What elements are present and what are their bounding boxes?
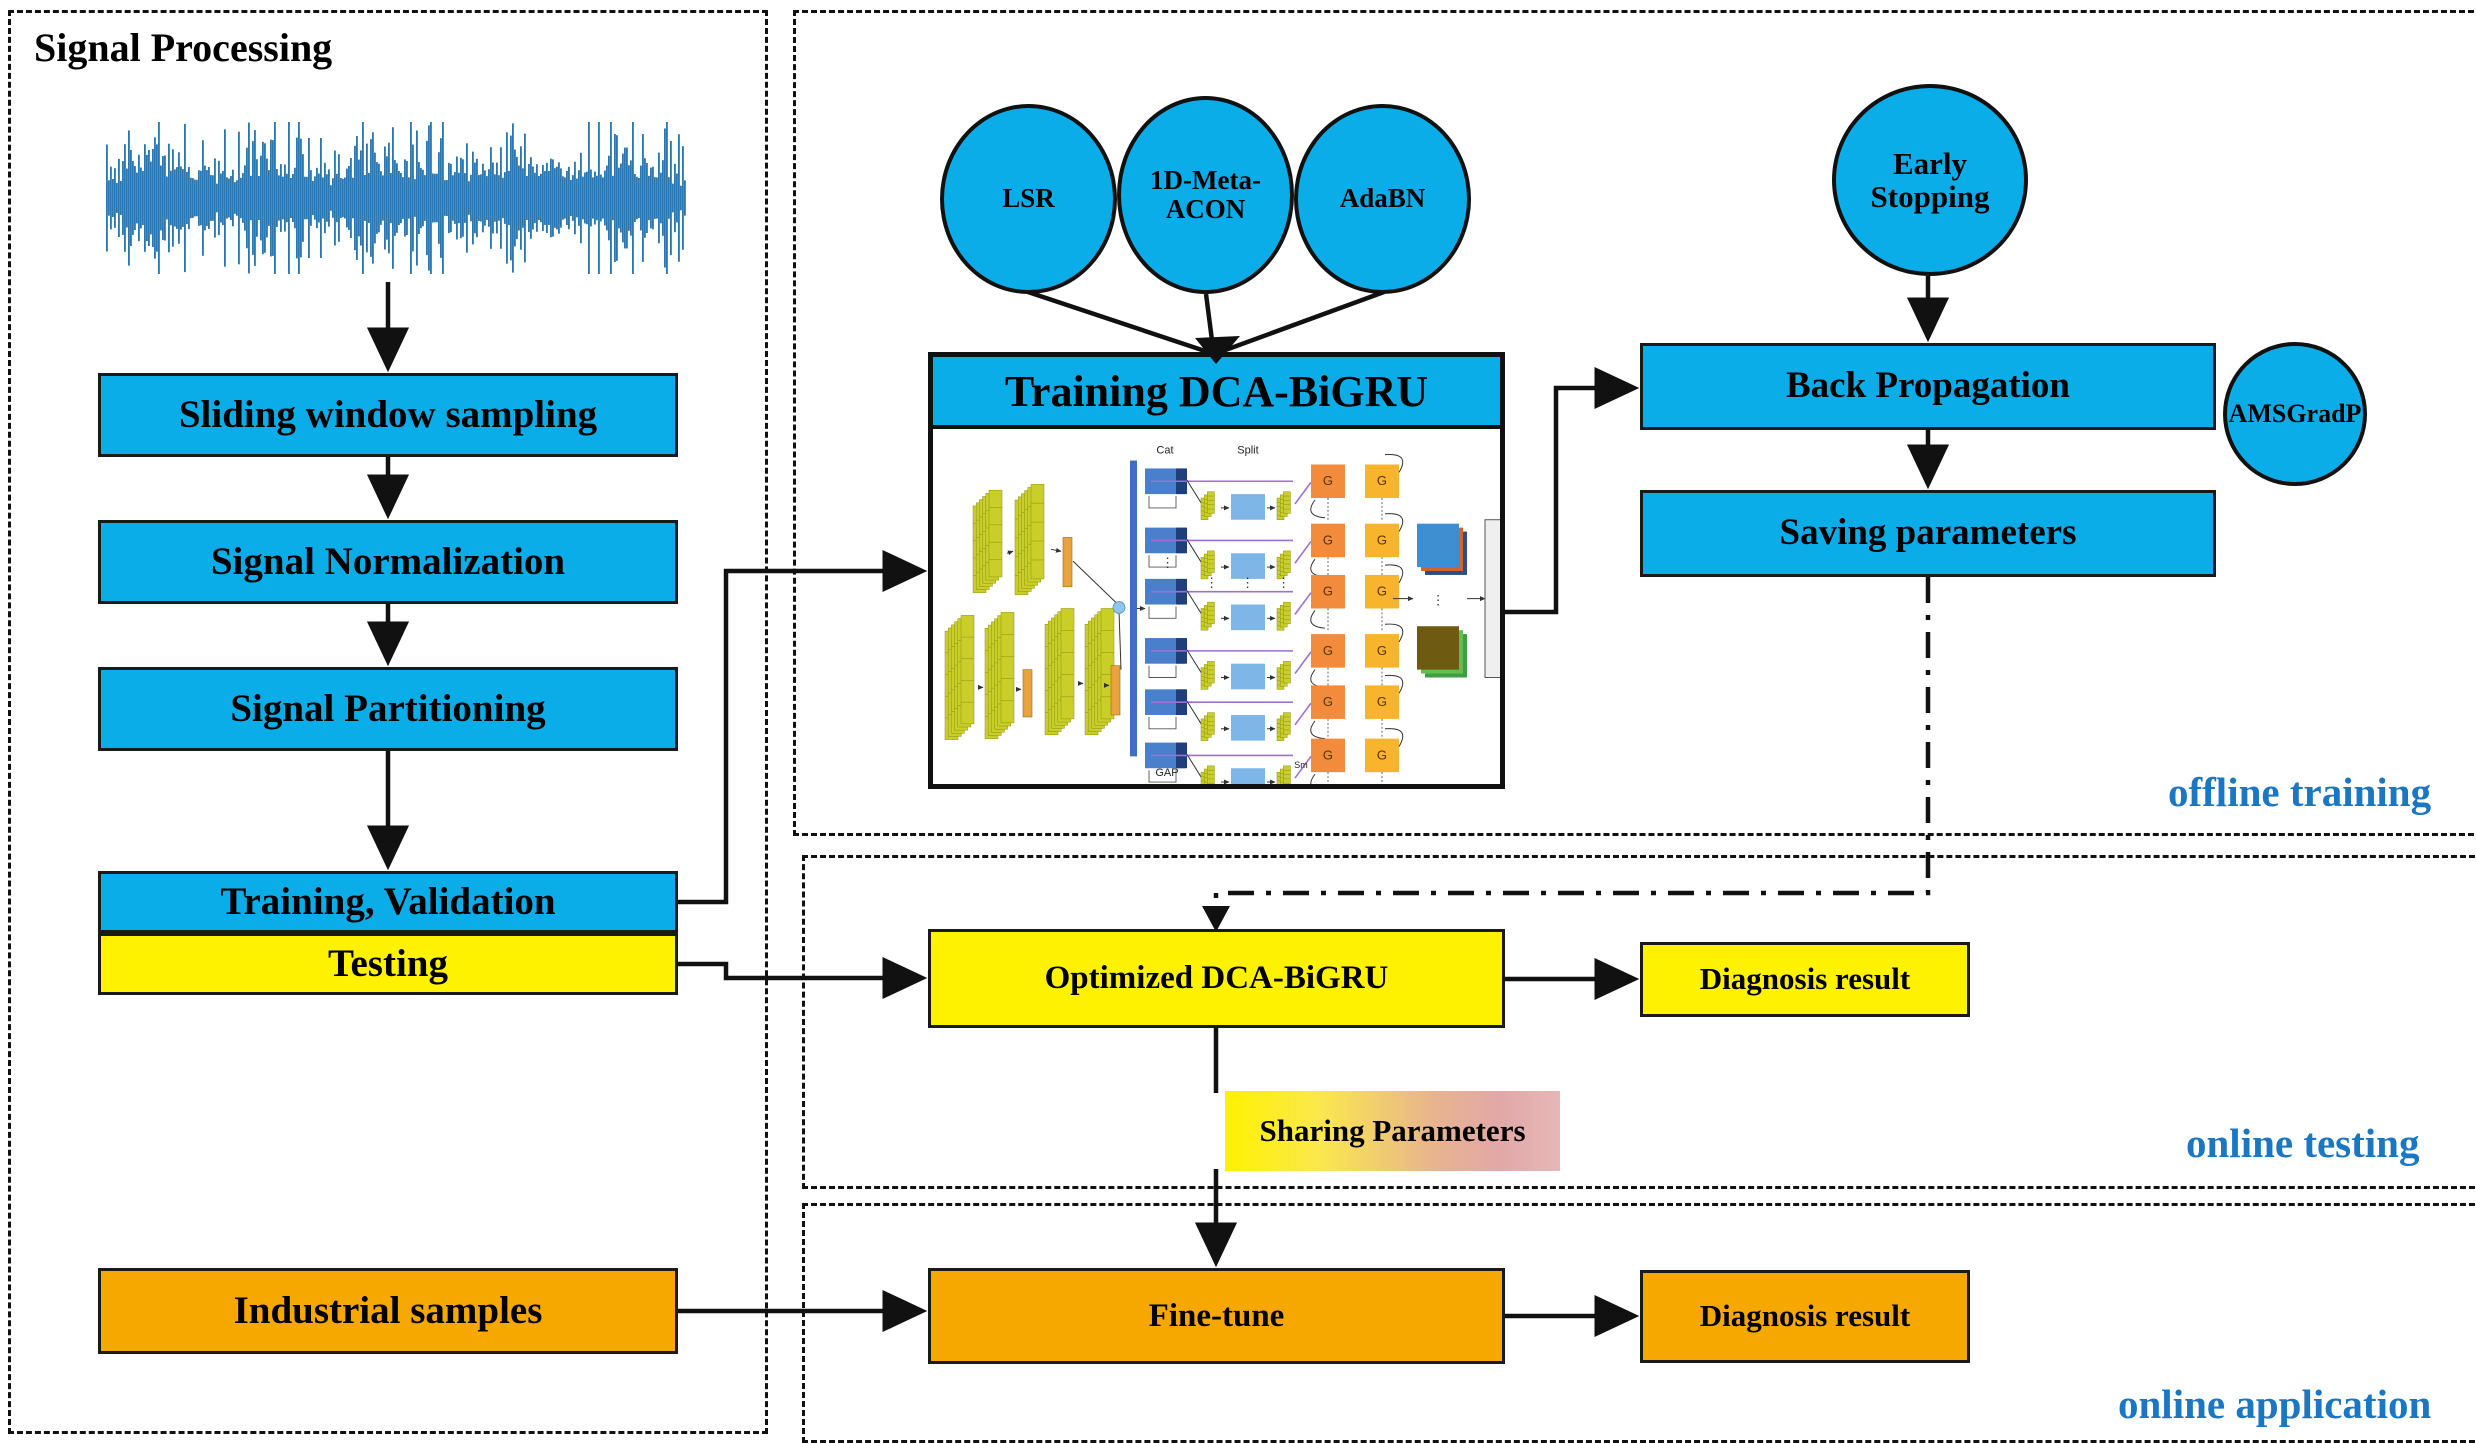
box-testing[interactable]: Testing bbox=[98, 933, 678, 995]
svg-text:G: G bbox=[1323, 694, 1333, 709]
box-label: Industrial samples bbox=[234, 1291, 543, 1332]
svg-text:⋮: ⋮ bbox=[1432, 593, 1445, 608]
svg-text:G: G bbox=[1323, 747, 1333, 762]
box-saving-parameters[interactable]: Saving parameters bbox=[1640, 490, 2216, 577]
svg-text:GAP: GAP bbox=[1155, 767, 1178, 779]
box-diagnosis-result-testing[interactable]: Diagnosis result bbox=[1640, 942, 1970, 1017]
svg-text:G: G bbox=[1323, 643, 1333, 658]
box-label: Signal Normalization bbox=[211, 542, 565, 583]
box-optimized-dca-bigru[interactable]: Optimized DCA-BiGRU bbox=[928, 929, 1505, 1028]
box-label: Training, Validation bbox=[220, 882, 555, 923]
svg-text:Split: Split bbox=[1237, 445, 1258, 457]
svg-text:G: G bbox=[1377, 532, 1387, 547]
card-title-text: Training DCA-BiGRU bbox=[1005, 366, 1428, 417]
svg-text:G: G bbox=[1377, 584, 1387, 599]
box-label: Saving parameters bbox=[1780, 514, 2077, 553]
circle-1d-meta-acon[interactable]: 1D-Meta- ACON bbox=[1117, 96, 1294, 294]
circle-amsgradp[interactable]: AMSGradP bbox=[2223, 342, 2367, 486]
box-label: Back Propagation bbox=[1786, 367, 2070, 406]
section-title-signal-processing: Signal Processing bbox=[34, 24, 332, 71]
flowchart-canvas: offline training online testing online a… bbox=[0, 0, 2476, 1440]
svg-text:G: G bbox=[1377, 694, 1387, 709]
box-diagnosis-result-application[interactable]: Diagnosis result bbox=[1640, 1270, 1970, 1363]
circle-adabn[interactable]: AdaBN bbox=[1294, 104, 1471, 294]
box-back-propagation[interactable]: Back Propagation bbox=[1640, 343, 2216, 430]
svg-text:⋮: ⋮ bbox=[1205, 575, 1218, 590]
svg-text:G: G bbox=[1323, 473, 1333, 488]
box-signal-partitioning[interactable]: Signal Partitioning bbox=[98, 667, 678, 751]
svg-text:G: G bbox=[1323, 532, 1333, 547]
circle-label: LSR bbox=[1002, 184, 1055, 213]
svg-text:Sm: Sm bbox=[1294, 760, 1307, 770]
box-sliding-window-sampling[interactable]: Sliding window sampling bbox=[98, 373, 678, 457]
panel-label-online-testing: online testing bbox=[2186, 1119, 2420, 1167]
box-industrial-samples[interactable]: Industrial samples bbox=[98, 1268, 678, 1354]
box-label: Signal Partitioning bbox=[230, 689, 545, 730]
svg-text:G: G bbox=[1377, 747, 1387, 762]
circle-early-stopping[interactable]: Early Stopping bbox=[1832, 84, 2028, 276]
box-signal-normalization[interactable]: Signal Normalization bbox=[98, 520, 678, 604]
circle-label: Early Stopping bbox=[1871, 147, 1990, 214]
banner-sharing-parameters: Sharing Parameters bbox=[1225, 1091, 1560, 1171]
box-label: Sliding window sampling bbox=[179, 395, 597, 436]
circle-label: 1D-Meta- ACON bbox=[1150, 166, 1261, 224]
panel-label-offline-training: offline training bbox=[2168, 768, 2431, 816]
circle-label: AdaBN bbox=[1340, 184, 1426, 213]
box-fine-tune[interactable]: Fine-tune bbox=[928, 1268, 1505, 1364]
box-label: Fine-tune bbox=[1149, 1299, 1285, 1334]
network-architecture-diagram: GGGGGGGGGGGG⋮⋮⋮⋮CatSplitGAPSm⋮0123456789 bbox=[933, 429, 1500, 784]
svg-text:⋮: ⋮ bbox=[1241, 575, 1254, 590]
box-label: Diagnosis result bbox=[1700, 1300, 1910, 1333]
card-training-dca-bigru[interactable]: Training DCA-BiGRU GGGGGGGGGGGG⋮⋮⋮⋮CatSp… bbox=[928, 352, 1505, 789]
box-label: Testing bbox=[328, 944, 448, 985]
box-label: Diagnosis result bbox=[1700, 963, 1910, 996]
svg-text:G: G bbox=[1323, 584, 1333, 599]
banner-label: Sharing Parameters bbox=[1259, 1113, 1525, 1149]
circle-lsr[interactable]: LSR bbox=[940, 104, 1117, 294]
box-label: Optimized DCA-BiGRU bbox=[1045, 961, 1389, 996]
box-training-validation[interactable]: Training, Validation bbox=[98, 871, 678, 933]
svg-text:⋮: ⋮ bbox=[1161, 555, 1174, 570]
svg-text:Cat: Cat bbox=[1156, 445, 1173, 457]
panel-label-online-application: online application bbox=[2118, 1380, 2431, 1428]
card-title-training-dca-bigru: Training DCA-BiGRU bbox=[933, 357, 1500, 429]
svg-text:G: G bbox=[1377, 643, 1387, 658]
circle-label: AMSGradP bbox=[2229, 400, 2362, 428]
svg-text:G: G bbox=[1377, 473, 1387, 488]
svg-text:⋮: ⋮ bbox=[1277, 575, 1290, 590]
vibration-signal-waveform bbox=[106, 118, 686, 278]
